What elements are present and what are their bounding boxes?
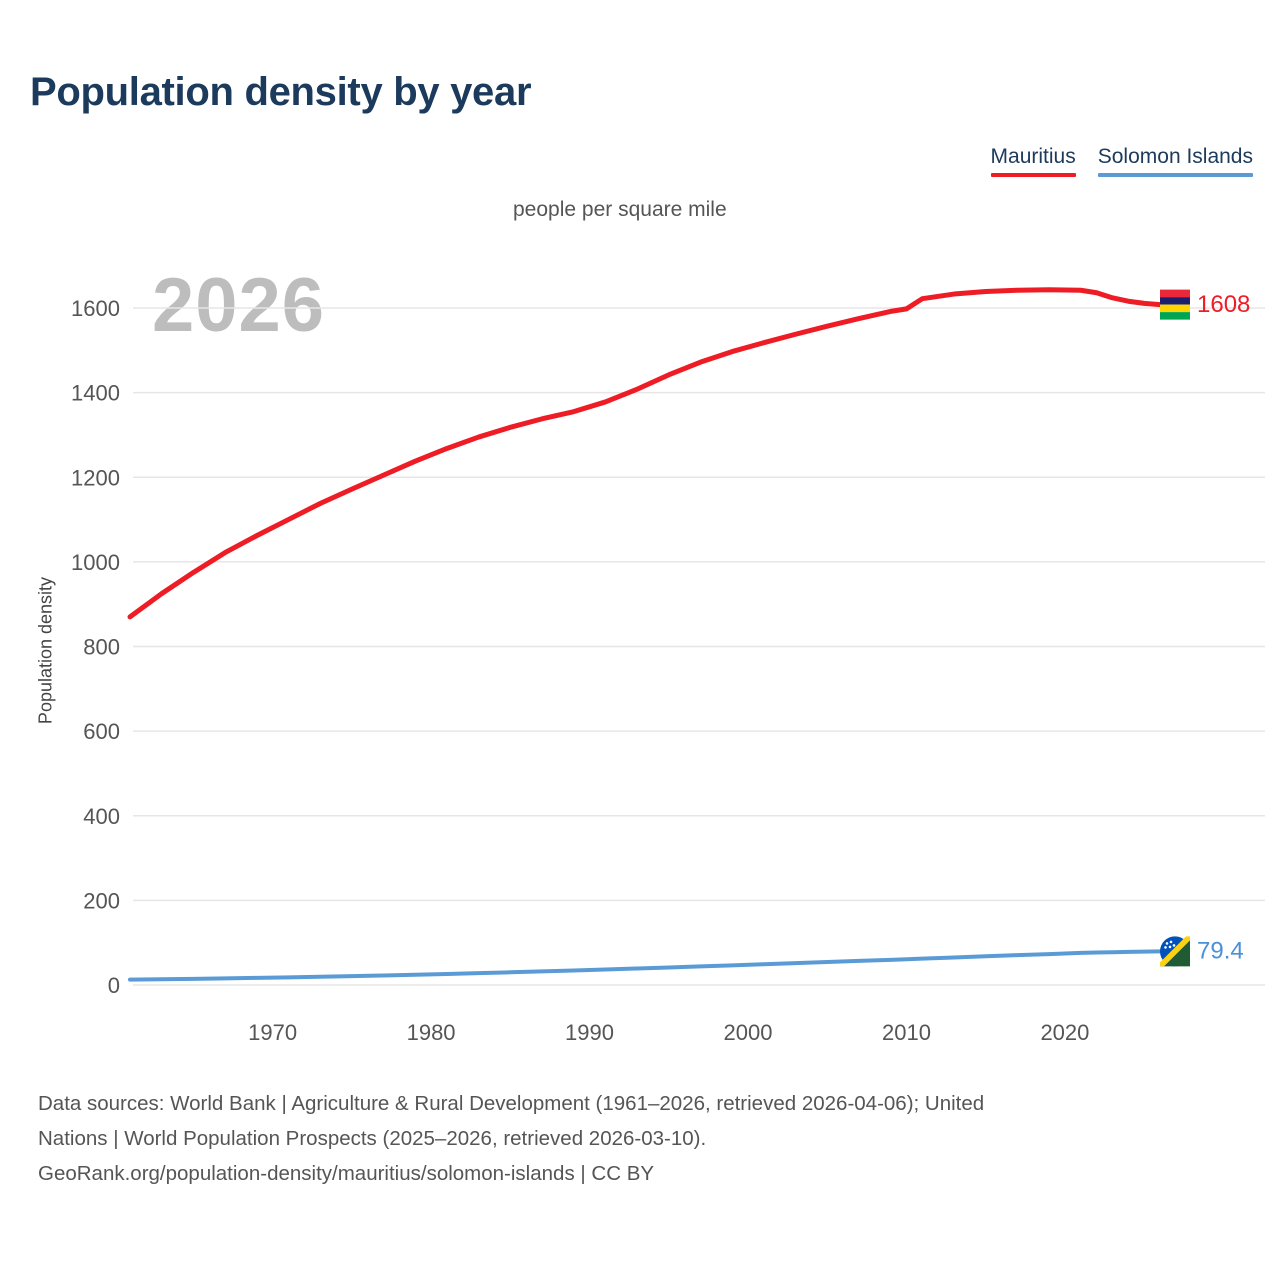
solomon-islands-flag-icon	[1160, 936, 1190, 966]
x-tick-label: 1970	[248, 1020, 297, 1045]
gridlines	[133, 308, 1265, 985]
series-line-mauritius	[130, 290, 1160, 617]
x-tick-label: 1990	[565, 1020, 614, 1045]
footer-sources: Data sources: World Bank | Agriculture &…	[38, 1086, 1263, 1191]
y-tick-label: 400	[83, 804, 120, 829]
footer-line-1: Data sources: World Bank | Agriculture &…	[38, 1086, 1263, 1121]
y-tick-label: 200	[83, 888, 120, 913]
footer-line-2: Nations | World Population Prospects (20…	[38, 1121, 1263, 1156]
series-line-solomon-islands	[130, 951, 1160, 979]
y-tick-label: 0	[108, 973, 120, 998]
end-label-mauritius: 1608	[1197, 291, 1250, 318]
y-tick-labels: 02004006008001000120014001600	[71, 296, 120, 998]
footer-line-3: GeoRank.org/population-density/mauritius…	[38, 1156, 1263, 1191]
end-label-solomon-islands: 79.4	[1197, 938, 1244, 965]
x-tick-label: 1980	[407, 1020, 456, 1045]
y-tick-label: 800	[83, 635, 120, 660]
y-tick-label: 1200	[71, 465, 120, 490]
chart-page: Population density by year Mauritius Sol…	[0, 0, 1280, 1280]
x-tick-labels: 197019801990200020102020	[248, 1020, 1089, 1045]
chart-plot-area: 02004006008001000120014001600 1970198019…	[0, 0, 1280, 1060]
y-tick-label: 1000	[71, 550, 120, 575]
y-tick-label: 600	[83, 719, 120, 744]
mauritius-flag-icon	[1160, 290, 1190, 320]
x-tick-label: 2000	[724, 1020, 773, 1045]
x-tick-label: 2020	[1040, 1020, 1089, 1045]
y-tick-label: 1400	[71, 381, 120, 406]
y-tick-label: 1600	[71, 296, 120, 321]
x-tick-label: 2010	[882, 1020, 931, 1045]
